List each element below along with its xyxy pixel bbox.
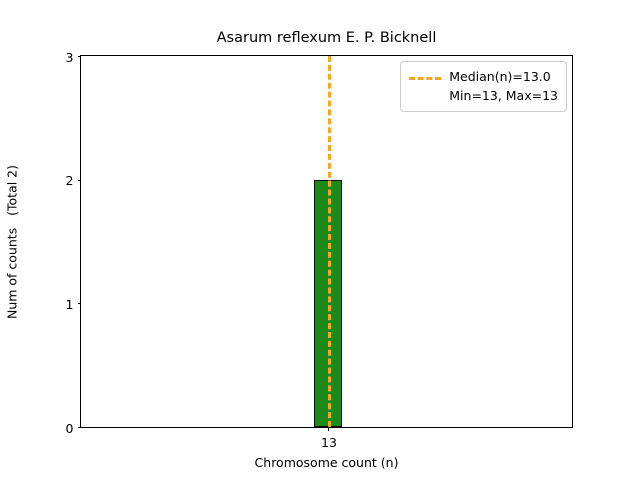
x-tick-label-13: 13 xyxy=(299,435,359,450)
y-tick-3: 3 xyxy=(78,56,82,57)
x-tick-13: 13 xyxy=(328,427,329,431)
y-axis-label-container: Num of counts (Total 2) xyxy=(0,55,24,428)
x-axis-label: Chromosome count (n) xyxy=(80,455,573,470)
legend-item-median: Median(n)=13.0 xyxy=(409,67,558,86)
chart-title: Asarum reflexum E. P. Bicknell xyxy=(80,30,573,46)
y-tick-label-0: 0 xyxy=(66,420,74,437)
chart-figure: Asarum reflexum E. P. Bicknell Num of co… xyxy=(0,0,640,480)
legend: Median(n)=13.0 Min=13, Max=13 xyxy=(400,61,567,112)
median-line xyxy=(328,56,331,427)
legend-label-minmax: Min=13, Max=13 xyxy=(449,88,558,103)
y-tick-label-1: 1 xyxy=(66,296,74,313)
legend-item-minmax: Min=13, Max=13 xyxy=(409,86,558,105)
y-axis-label: Num of counts (Total 2) xyxy=(5,164,20,318)
plot-area: 3 2 1 0 13 Median(n)=1 xyxy=(80,55,573,428)
y-tick-0: 0 xyxy=(78,427,82,428)
y-tick-2: 2 xyxy=(78,180,82,181)
legend-blank-icon xyxy=(409,90,441,102)
y-tick-label-2: 2 xyxy=(66,172,74,189)
plot-inner: 3 2 1 0 13 Median(n)=1 xyxy=(81,56,572,427)
y-tick-1: 1 xyxy=(78,303,82,304)
y-tick-label-3: 3 xyxy=(66,49,74,66)
legend-dashed-line-icon xyxy=(409,71,441,83)
legend-label-median: Median(n)=13.0 xyxy=(449,69,550,84)
